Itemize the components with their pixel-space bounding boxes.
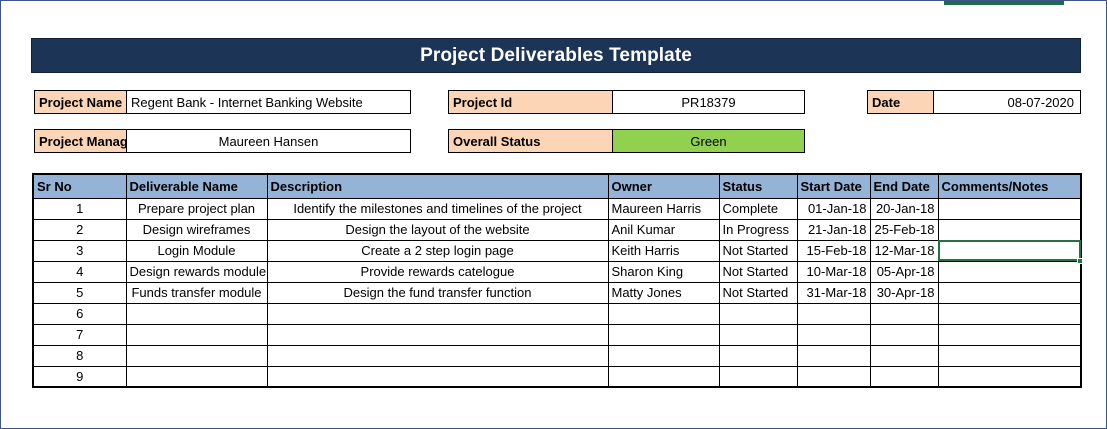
cell-owner[interactable] [608, 324, 719, 345]
cell-owner[interactable]: Maureen Harris [608, 198, 719, 219]
top-green-strip [944, 1, 1064, 5]
cell-deliverable-name[interactable] [126, 345, 267, 366]
cell-owner[interactable] [608, 345, 719, 366]
table-row: 3Login ModuleCreate a 2 step login pageK… [33, 240, 1081, 261]
project-name-value[interactable]: Regent Bank - Internet Banking Website [127, 90, 411, 114]
cell-status[interactable] [719, 345, 797, 366]
cell-description[interactable]: Create a 2 step login page [267, 240, 608, 261]
cell-end-date[interactable]: 12-Mar-18 [870, 240, 938, 261]
field-project-id: Project Id PR18379 [448, 90, 805, 114]
project-name-label: Project Name [34, 90, 127, 114]
cell-deliverable-name[interactable] [126, 366, 267, 387]
cell-description[interactable] [267, 345, 608, 366]
cell-deliverable-name[interactable]: Login Module [126, 240, 267, 261]
cell-status[interactable]: In Progress [719, 219, 797, 240]
deliverables-table: Sr No Deliverable Name Description Owner… [32, 173, 1082, 388]
cell-start-date[interactable]: 15-Feb-18 [797, 240, 870, 261]
cell-owner[interactable] [608, 366, 719, 387]
cell-comments[interactable] [938, 345, 1081, 366]
field-overall-status: Overall Status Green [448, 129, 805, 153]
cell-description[interactable]: Design the fund transfer function [267, 282, 608, 303]
cell-start-date[interactable]: 01-Jan-18 [797, 198, 870, 219]
cell-comments[interactable] [938, 261, 1081, 282]
cell-owner[interactable]: Sharon King [608, 261, 719, 282]
cell-sr-no[interactable]: 9 [33, 366, 126, 387]
cell-end-date[interactable] [870, 345, 938, 366]
cell-sr-no[interactable]: 8 [33, 345, 126, 366]
cell-status[interactable]: Complete [719, 198, 797, 219]
project-manager-value[interactable]: Maureen Hansen [127, 129, 411, 153]
table-row: 5Funds transfer moduleDesign the fund tr… [33, 282, 1081, 303]
field-date: Date 08-07-2020 [867, 90, 1081, 114]
table-row: 7 [33, 324, 1081, 345]
date-label: Date [867, 90, 934, 114]
page-title: Project Deliverables Template [420, 45, 692, 67]
cell-description[interactable]: Provide rewards catelogue [267, 261, 608, 282]
cell-sr-no[interactable]: 2 [33, 219, 126, 240]
cell-owner[interactable]: Keith Harris [608, 240, 719, 261]
overall-status-value[interactable]: Green [613, 129, 805, 153]
column-header-end-date[interactable]: End Date [870, 174, 938, 198]
cell-status[interactable] [719, 303, 797, 324]
cell-comments[interactable] [938, 324, 1081, 345]
table-row: 1Prepare project planIdentify the milest… [33, 198, 1081, 219]
cell-sr-no[interactable]: 7 [33, 324, 126, 345]
column-header-owner[interactable]: Owner [608, 174, 719, 198]
column-header-status[interactable]: Status [719, 174, 797, 198]
overall-status-label: Overall Status [448, 129, 613, 153]
page-title-banner: Project Deliverables Template [31, 38, 1081, 73]
cell-comments[interactable] [938, 282, 1081, 303]
cell-end-date[interactable] [870, 303, 938, 324]
table-header-row: Sr No Deliverable Name Description Owner… [33, 174, 1081, 198]
cell-sr-no[interactable]: 5 [33, 282, 126, 303]
cell-sr-no[interactable]: 3 [33, 240, 126, 261]
cell-deliverable-name[interactable]: Design rewards module [126, 261, 267, 282]
table-row: 6 [33, 303, 1081, 324]
cell-deliverable-name[interactable]: Prepare project plan [126, 198, 267, 219]
cell-description[interactable] [267, 303, 608, 324]
cell-end-date[interactable]: 30-Apr-18 [870, 282, 938, 303]
table-row: 4Design rewards moduleProvide rewards ca… [33, 261, 1081, 282]
cell-start-date[interactable] [797, 345, 870, 366]
cell-status[interactable]: Not Started [719, 261, 797, 282]
cell-start-date[interactable] [797, 366, 870, 387]
cell-status[interactable]: Not Started [719, 240, 797, 261]
cell-deliverable-name[interactable]: Funds transfer module [126, 282, 267, 303]
field-project-name: Project Name Regent Bank - Internet Bank… [34, 90, 411, 114]
cell-sr-no[interactable]: 6 [33, 303, 126, 324]
cell-end-date[interactable]: 05-Apr-18 [870, 261, 938, 282]
cell-status[interactable]: Not Started [719, 282, 797, 303]
cell-owner[interactable] [608, 303, 719, 324]
cell-end-date[interactable]: 20-Jan-18 [870, 198, 938, 219]
cell-description[interactable] [267, 324, 608, 345]
cell-owner[interactable]: Anil Kumar [608, 219, 719, 240]
project-manager-label: Project Manag [34, 129, 127, 153]
cell-deliverable-name[interactable] [126, 324, 267, 345]
cell-status[interactable] [719, 366, 797, 387]
cell-owner[interactable]: Matty Jones [608, 282, 719, 303]
column-header-deliverable-name[interactable]: Deliverable Name [126, 174, 267, 198]
cell-comments[interactable] [938, 366, 1081, 387]
cell-comments[interactable] [938, 198, 1081, 219]
table-row: 2Design wireframesDesign the layout of t… [33, 219, 1081, 240]
project-id-label: Project Id [448, 90, 613, 114]
cell-comments[interactable] [938, 303, 1081, 324]
spreadsheet-page: Project Deliverables Template Project Na… [0, 0, 1107, 429]
column-header-start-date[interactable]: Start Date [797, 174, 870, 198]
cell-start-date[interactable] [797, 324, 870, 345]
cell-description[interactable] [267, 366, 608, 387]
cell-start-date[interactable] [797, 303, 870, 324]
cell-description[interactable]: Design the layout of the website [267, 219, 608, 240]
date-value[interactable]: 08-07-2020 [934, 90, 1081, 114]
cell-status[interactable] [719, 324, 797, 345]
cell-start-date[interactable]: 21-Jan-18 [797, 219, 870, 240]
column-header-sr-no[interactable]: Sr No [33, 174, 126, 198]
cell-start-date[interactable]: 10-Mar-18 [797, 261, 870, 282]
column-header-description[interactable]: Description [267, 174, 608, 198]
cell-deliverable-name[interactable] [126, 303, 267, 324]
cell-end-date[interactable]: 25-Feb-18 [870, 219, 938, 240]
cell-sr-no[interactable]: 4 [33, 261, 126, 282]
cell-end-date[interactable] [870, 324, 938, 345]
cell-description[interactable]: Identify the milestones and timelines of… [267, 198, 608, 219]
cell-end-date[interactable] [870, 366, 938, 387]
project-id-value[interactable]: PR18379 [613, 90, 805, 114]
cell-deliverable-name[interactable]: Design wireframes [126, 219, 267, 240]
column-header-comments[interactable]: Comments/Notes [938, 174, 1081, 198]
cell-sr-no[interactable]: 1 [33, 198, 126, 219]
field-project-manager: Project Manag Maureen Hansen [34, 129, 411, 153]
cell-start-date[interactable]: 31-Mar-18 [797, 282, 870, 303]
deliverables-table-wrapper: Sr No Deliverable Name Description Owner… [32, 173, 1080, 388]
cell-comments[interactable] [938, 219, 1081, 240]
table-row: 8 [33, 345, 1081, 366]
table-body: 1Prepare project planIdentify the milest… [33, 198, 1081, 387]
cell-comments-selected[interactable] [938, 240, 1081, 261]
table-row: 9 [33, 366, 1081, 387]
